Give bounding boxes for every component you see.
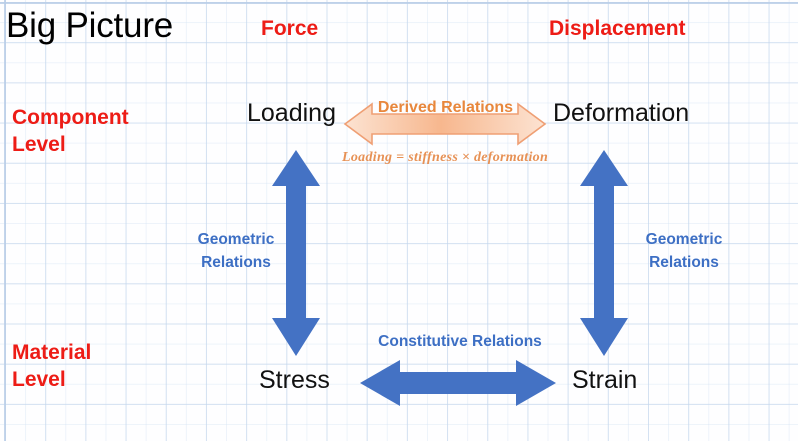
node-loading[interactable]: Loading [247,99,336,129]
label-constitutive-relations: Constitutive Relations [368,333,552,351]
column-header-displacement: Displacement [549,17,686,42]
label-geometric-left-line1: Geometric [181,231,291,249]
node-deformation[interactable]: Deformation [553,99,689,129]
formula-derived-relations: Loading = stiffness × deformation [342,150,548,167]
diagram-canvas: Big Picture Force Displacement Component… [0,0,798,441]
row-header-material-line2: Level [12,368,66,393]
row-header-material-line1: Material [12,341,91,366]
row-header-component-line2: Level [12,133,66,158]
column-header-force: Force [261,17,318,42]
node-strain[interactable]: Strain [572,366,637,396]
page-title: Big Picture [6,5,173,46]
label-derived-relations: Derived Relations [373,99,518,118]
label-geometric-right-line1: Geometric [629,231,739,249]
label-geometric-left-line2: Relations [181,254,291,272]
label-geometric-right-line2: Relations [629,254,739,272]
grid-top-border [0,2,798,4]
node-stress[interactable]: Stress [259,366,330,396]
grid-left-border [4,0,6,441]
row-header-component-line1: Component [12,106,129,131]
